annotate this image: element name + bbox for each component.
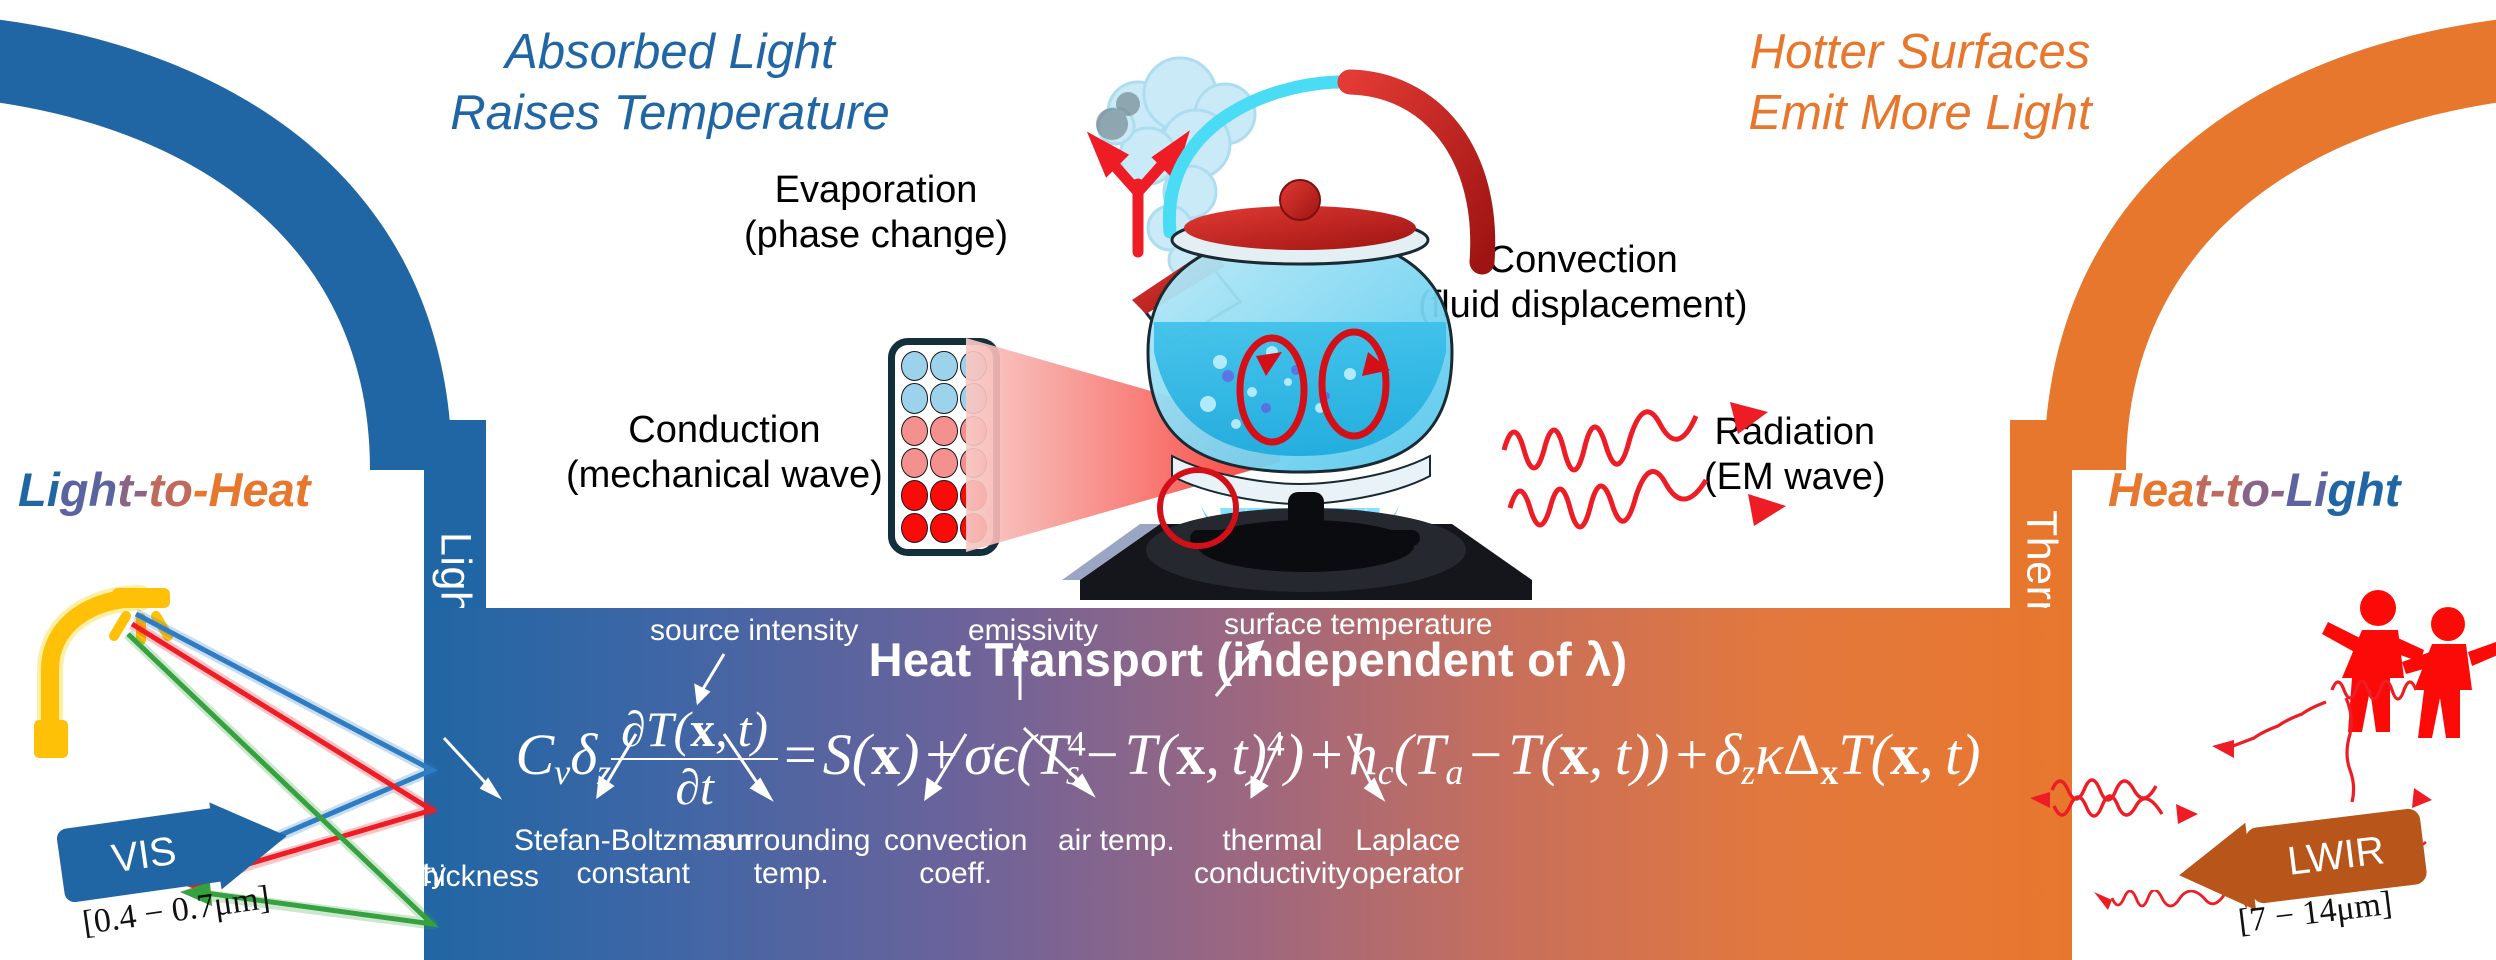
heading-hotter-surfaces: Hotter Surfaces Emit More Light — [1640, 22, 2200, 145]
annotation-emissivity: emissivity — [968, 614, 1098, 647]
street-lamp-icon — [28, 560, 368, 760]
heading-hotter-surfaces-line1: Hotter Surfaces — [1640, 22, 2200, 83]
title-light-to-heat-p5: -Heat — [193, 463, 311, 516]
eq-Cv: C — [516, 722, 555, 787]
molecule-dot — [901, 480, 928, 510]
annotation-laplace-operator: Laplace operator — [1352, 824, 1464, 890]
title-light-to-heat-p4: to — [149, 463, 193, 516]
annotation-thermal-conductivity: thermal conductivity — [1194, 824, 1351, 890]
molecule-dot — [901, 416, 928, 446]
heading-absorbed-light-line1: Absorbed Light — [350, 22, 990, 83]
conduction-molecule-grid — [888, 338, 1000, 556]
heat-transport-banner: Heat Transport (independent of λ) Cvδz∂T… — [424, 608, 2072, 960]
heading-absorbed-light: Absorbed Light Raises Temperature — [350, 22, 990, 145]
annotation-thermal-l2: conductivity — [1194, 857, 1351, 890]
vis-camera-lens — [209, 792, 293, 889]
eq-kappa: κ — [1755, 722, 1783, 787]
eq-laplace: Δ — [1783, 722, 1820, 787]
kettle-on-stove-icon — [1020, 52, 1580, 627]
eq-hc: h — [1349, 722, 1378, 787]
molecule-dot — [960, 383, 987, 413]
eq-delta-2: δ — [1714, 722, 1741, 787]
molecule-dot — [901, 351, 928, 381]
label-conduction-sub: (mechanical wave) — [566, 453, 883, 498]
label-evaporation-title: Evaporation — [744, 168, 1008, 213]
eq-delta: δ — [570, 722, 597, 787]
eq-hc-sub: c — [1378, 752, 1394, 792]
eq-source: S( — [823, 722, 871, 787]
title-heat-to-light-p1: Hea — [2108, 463, 2194, 516]
annotation-laplace-l1: Laplace — [1352, 824, 1464, 857]
annotation-surface-temperature: surface temperature — [1224, 608, 1492, 641]
label-evaporation: Evaporation (phase change) — [744, 168, 1008, 258]
diagram-canvas: Absorbed Light Raises Temperature Hotter… — [0, 0, 2496, 960]
eq-plus-2: + — [1304, 722, 1349, 787]
molecule-dot — [960, 351, 987, 381]
title-light-to-heat: Light-to-Heat — [18, 462, 310, 517]
title-light-to-heat-p1: Li — [18, 463, 60, 516]
title-heat-to-light-p3: o- — [2241, 463, 2285, 516]
eq-Ts: T — [1035, 722, 1067, 787]
heading-hotter-surfaces-line2: Emit More Light — [1640, 83, 2200, 144]
label-radiation-title: Radiation — [1704, 410, 1886, 455]
molecule-dot — [930, 351, 957, 381]
eq-minus-1: − — [1080, 722, 1125, 787]
lwir-camera-icon: LWIR — [2244, 808, 2428, 905]
label-conduction: Conduction (mechanical wave) — [566, 408, 883, 498]
title-light-to-heat-p3: t- — [117, 463, 148, 516]
eq-Txt-sup-1: 4 — [1267, 723, 1285, 763]
eq-Ts-sub: s — [1066, 752, 1080, 792]
annotation-air-temp: air temp. — [1058, 824, 1175, 857]
molecule-dot — [930, 513, 957, 543]
molecule-dot — [901, 448, 928, 478]
label-evaporation-sub: (phase change) — [744, 213, 1008, 258]
eq-epsilon: ϵ — [993, 722, 1016, 787]
annotation-laplace-l2: operator — [1352, 857, 1464, 890]
label-radiation: Radiation (EM wave) — [1704, 410, 1886, 500]
eq-Ta-sub: a — [1445, 752, 1463, 792]
annotation-surrounding-l1: surrounding — [712, 824, 870, 857]
two-people-icon — [2320, 586, 2496, 746]
eq-plus-3: + — [1670, 722, 1715, 787]
eq-plus-1: + — [919, 722, 964, 787]
molecule-dot — [960, 448, 987, 478]
lwir-camera-label: LWIR — [2244, 808, 2428, 905]
annotation-convection-coeff: convection coeff. — [884, 824, 1027, 890]
molecule-dot — [960, 513, 987, 543]
title-heat-to-light-p5: ght — [2327, 463, 2400, 516]
label-radiation-sub: (EM wave) — [1704, 455, 1886, 500]
title-heat-to-light: Heat-to-Light — [2108, 462, 2400, 517]
heading-absorbed-light-line2: Raises Temperature — [350, 83, 990, 144]
eq-equals: = — [778, 722, 823, 787]
eq-partial-fraction: ∂T(x, t)∂t — [611, 702, 778, 816]
annotation-surrounding-temp: surrounding temp. — [712, 824, 870, 890]
molecule-dot — [901, 383, 928, 413]
label-conduction-title: Conduction — [566, 408, 883, 453]
molecule-dot — [930, 480, 957, 510]
molecule-dot — [930, 448, 957, 478]
eq-Cv-sub: v — [554, 752, 570, 792]
molecule-dot — [901, 513, 928, 543]
eq-Ta: T — [1413, 722, 1445, 787]
annotation-surrounding-l2: temp. — [712, 857, 870, 890]
molecule-dot — [960, 416, 987, 446]
title-heat-to-light-p2: t-t — [2194, 463, 2241, 516]
eq-minus-2: − — [1463, 722, 1508, 787]
annotation-heat-capacity-l1: heat — [336, 824, 446, 857]
molecule-dot — [930, 416, 957, 446]
annotation-convection-l2: coeff. — [884, 857, 1027, 890]
annotation-thermal-l1: thermal — [1194, 824, 1351, 857]
annotation-convection-l1: convection — [884, 824, 1027, 857]
molecule-dot — [930, 383, 957, 413]
molecule-dot — [960, 480, 987, 510]
eq-sigma: σ — [964, 722, 993, 787]
eq-delta-2-sub: z — [1741, 752, 1755, 792]
eq-laplace-sub: x — [1820, 752, 1838, 792]
title-light-to-heat-p2: gh — [60, 463, 117, 516]
eq-delta-sub: z — [597, 752, 611, 792]
heat-equation-expression: Cvδz∂T(x, t)∂t=S(x)+σϵ(T4s−T(x, t)4)+hc(… — [516, 704, 1981, 818]
annotation-source-intensity: source intensity — [650, 614, 858, 647]
title-heat-to-light-p4: Li — [2286, 463, 2328, 516]
heat-equation: Cvδz∂T(x, t)∂t=S(x)+σϵ(T4s−T(x, t)4)+hc(… — [424, 704, 2072, 818]
